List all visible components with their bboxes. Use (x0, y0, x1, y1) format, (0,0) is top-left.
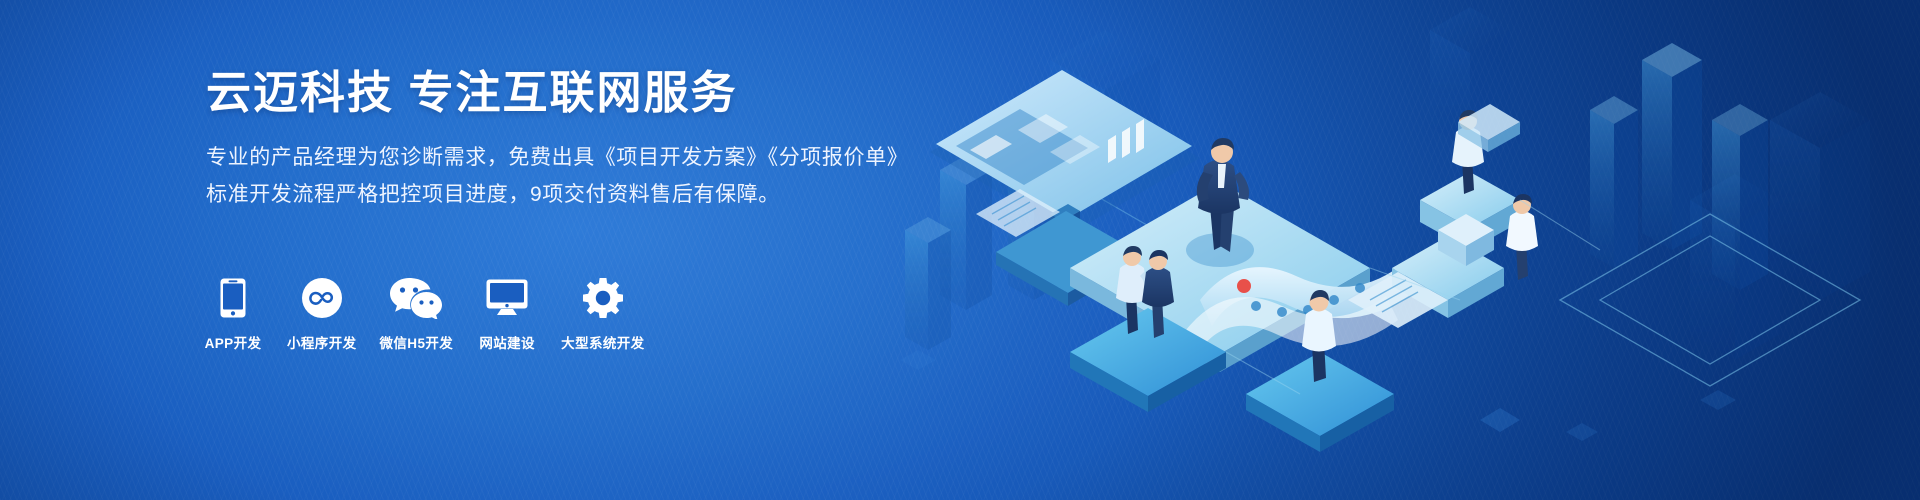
service-label: 微信H5开发 (380, 332, 454, 352)
service-label: 小程序开发 (287, 332, 357, 352)
gear-icon (582, 276, 624, 320)
service-label: 大型系统开发 (561, 332, 644, 352)
banner-subtitle: 专业的产品经理为您诊断需求，免费出具《项目开发方案》《分项报价单》 标准开发流程… (206, 140, 1106, 214)
page-title: 云迈科技 专注互联网服务 (206, 68, 1106, 118)
mobile-phone-icon (220, 276, 246, 320)
subtitle-line-1: 专业的产品经理为您诊断需求，免费出具《项目开发方案》《分项报价单》 (206, 146, 908, 169)
wechat-icon (390, 276, 442, 320)
service-item-wechat-h5[interactable]: 微信H5开发 (380, 276, 454, 352)
mini-program-icon (302, 276, 342, 320)
service-item-mini-program[interactable]: 小程序开发 (287, 276, 357, 352)
service-item-website[interactable]: 网站建设 (476, 276, 538, 352)
monitor-icon (486, 276, 528, 320)
service-item-large-system[interactable]: 大型系统开发 (561, 276, 644, 352)
subtitle-line-2: 标准开发流程严格把控项目进度，9项交付资料售后有保障。 (206, 177, 1106, 214)
service-label: APP开发 (205, 332, 262, 352)
banner-content: 云迈科技 专注互联网服务 专业的产品经理为您诊断需求，免费出具《项目开发方案》《… (206, 68, 1106, 214)
hero-banner: 云迈科技 专注互联网服务 专业的产品经理为您诊断需求，免费出具《项目开发方案》《… (0, 0, 1920, 500)
service-item-app[interactable]: APP开发 (202, 276, 264, 352)
service-list: APP开发 小程序开发 (202, 276, 645, 352)
service-label: 网站建设 (479, 332, 535, 352)
